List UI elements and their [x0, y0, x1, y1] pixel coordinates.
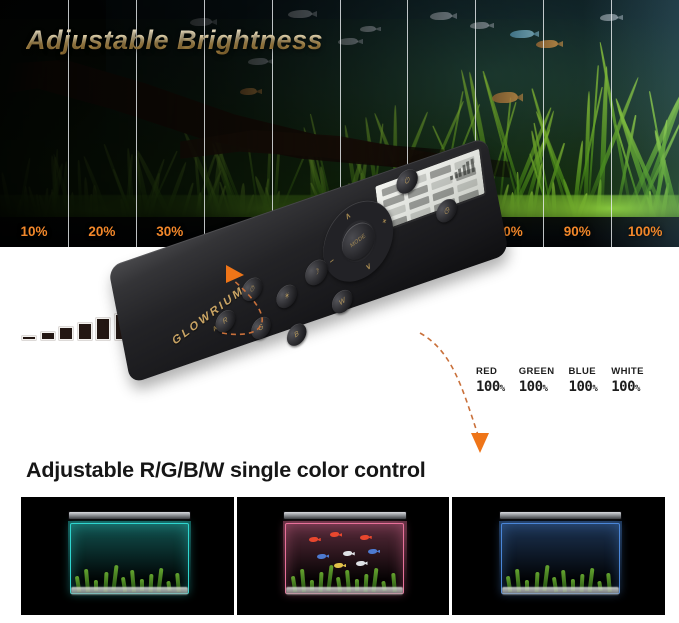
rgbw-column-red: RED100% [476, 366, 505, 395]
rgbw-label-red: RED [476, 366, 505, 377]
brightness-up-button[interactable]: ☀ [273, 280, 300, 313]
led-light-bar [283, 511, 406, 520]
tank-plants [505, 540, 616, 592]
color-green-button[interactable]: G [248, 312, 273, 343]
gravel-bed [502, 587, 619, 595]
aquarium-color-gallery [21, 497, 665, 615]
brightness-bar-2 [41, 332, 55, 340]
rgbw-label-green: GREEN [519, 366, 555, 377]
dpad-down-icon[interactable]: ∨ [364, 260, 372, 272]
gravel-bed [286, 587, 403, 595]
rgbw-value-red: 100% [476, 379, 505, 395]
tank-fish-4 [317, 554, 326, 559]
rgbw-value-green: 100% [519, 379, 555, 395]
dpad-minus-icon[interactable]: − [328, 255, 335, 266]
rgbw-label-blue: BLUE [569, 366, 598, 377]
product-infographic: Adjustable Brightness 10%20%30%40%50%60%… [0, 0, 679, 623]
rgbw-value-white: 100% [611, 379, 644, 395]
section-headline: Adjustable R/G/B/W single color control [26, 458, 426, 483]
brightness-slice-10 [611, 0, 679, 247]
brightness-bar-3 [59, 327, 73, 340]
page-title: Adjustable Brightness [26, 25, 323, 56]
remote-control: GLOWRIUM A4 ∧ ∨ + − MODE ⏻ ◷ ⏱ ☀ ☽ R G B [108, 267, 528, 442]
led-light-bar [68, 511, 191, 520]
tank-fish-1 [309, 537, 318, 542]
brightness-level-20: 20% [68, 224, 136, 239]
aquarium-cyan [21, 497, 234, 615]
tank-fish-3 [360, 535, 369, 540]
color-white-button[interactable]: W [329, 285, 356, 318]
led-light-bar [499, 511, 622, 520]
rgbw-value-blue: 100% [569, 379, 598, 395]
brightness-level-90: 90% [543, 224, 611, 239]
rgbw-column-white: WHITE100% [611, 366, 644, 395]
tank-fish-8 [356, 561, 365, 566]
dpad-up-icon[interactable]: ∧ [344, 210, 352, 222]
brightness-bar-1 [22, 336, 36, 340]
rgbw-column-blue: BLUE100% [569, 366, 598, 395]
tank-plants [74, 540, 185, 592]
brightness-level-100: 100% [611, 224, 679, 239]
gravel-bed [71, 587, 188, 595]
timer-button[interactable]: ⏱ [239, 273, 266, 306]
rgbw-column-green: GREEN100% [519, 366, 555, 395]
remote-section: GLOWRIUM A4 ∧ ∨ + − MODE ⏻ ◷ ⏱ ☀ ☽ R G B [0, 247, 679, 460]
aquarium-pink [237, 497, 450, 615]
dpad-plus-icon[interactable]: + [381, 216, 388, 227]
brightness-slice-9 [543, 0, 611, 247]
dpad-center-button[interactable]: MODE [337, 215, 379, 267]
aquarium-blue [452, 497, 665, 615]
rgbw-readout: RED100%GREEN100%BLUE100%WHITE100% [476, 366, 644, 395]
brightness-bar-4 [78, 323, 92, 340]
rgbw-label-white: WHITE [611, 366, 644, 377]
color-blue-button[interactable]: B [284, 319, 309, 350]
brightness-level-10: 10% [0, 224, 68, 239]
